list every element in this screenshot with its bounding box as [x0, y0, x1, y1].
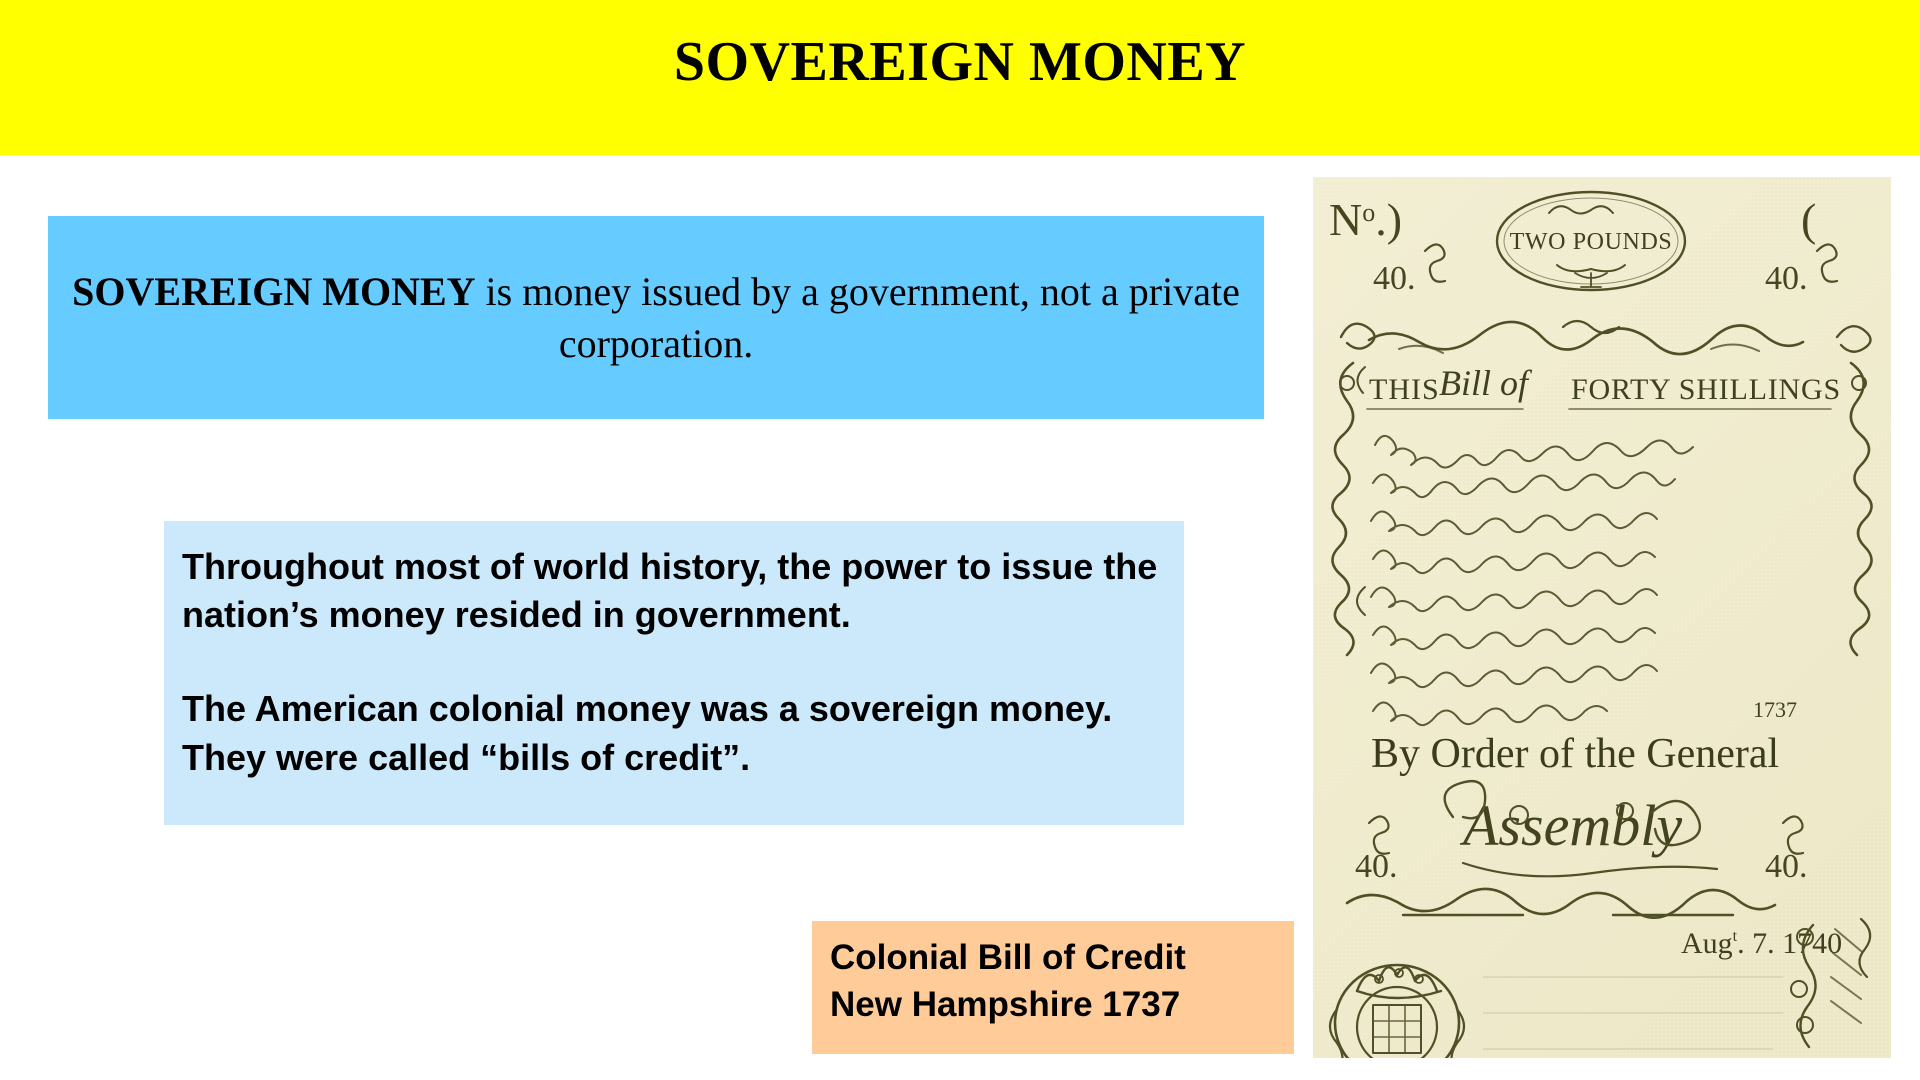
assembly-word: Assembly: [1459, 793, 1682, 858]
caption-line-1: Colonial Bill of Credit: [830, 935, 1276, 982]
page-title: SOVEREIGN MONEY: [0, 30, 1920, 94]
headline-this: THIS: [1369, 373, 1440, 406]
headline-bill-of: Bill of: [1439, 363, 1533, 403]
denomination-text: TWO POUNDS: [1510, 229, 1673, 255]
body-paragraph-2: The American colonial money was a sovere…: [182, 685, 1166, 781]
body-text-box: Throughout most of world history, the po…: [164, 521, 1184, 825]
value-bottom-left: 40.: [1355, 848, 1398, 885]
endorsement-date: Augt. 7. 1740: [1681, 927, 1842, 960]
bill-right-paren: (: [1801, 194, 1816, 245]
bill-paper-grain: [1313, 177, 1891, 1058]
definition-rest-line1: is money issued by a government,: [476, 269, 1030, 314]
value-top-left: 40.: [1373, 260, 1416, 297]
title-banner: SOVEREIGN MONEY: [0, 0, 1920, 155]
body-paragraph-1: Throughout most of world history, the po…: [182, 543, 1166, 639]
value-top-right: 40.: [1765, 260, 1808, 297]
image-caption-box: Colonial Bill of Credit New Hampshire 17…: [812, 921, 1294, 1054]
order-line: By Order of the General: [1371, 731, 1779, 777]
colonial-bill-svg: No.) ( TWO POUNDS 40. 40.: [1313, 177, 1891, 1058]
definition-lead-term: SOVEREIGN MONEY: [72, 269, 475, 314]
headline-forty-shilling: FORTY SHILLINGS: [1571, 373, 1841, 406]
caption-line-2: New Hampshire 1737: [830, 982, 1276, 1029]
colonial-bill-image: No.) ( TWO POUNDS 40. 40.: [1313, 177, 1891, 1058]
definition-callout-box: SOVEREIGN MONEY is money issued by a gov…: [48, 216, 1264, 419]
script-year-1737: 1737: [1753, 697, 1797, 722]
definition-text: SOVEREIGN MONEY is money issued by a gov…: [62, 266, 1250, 368]
